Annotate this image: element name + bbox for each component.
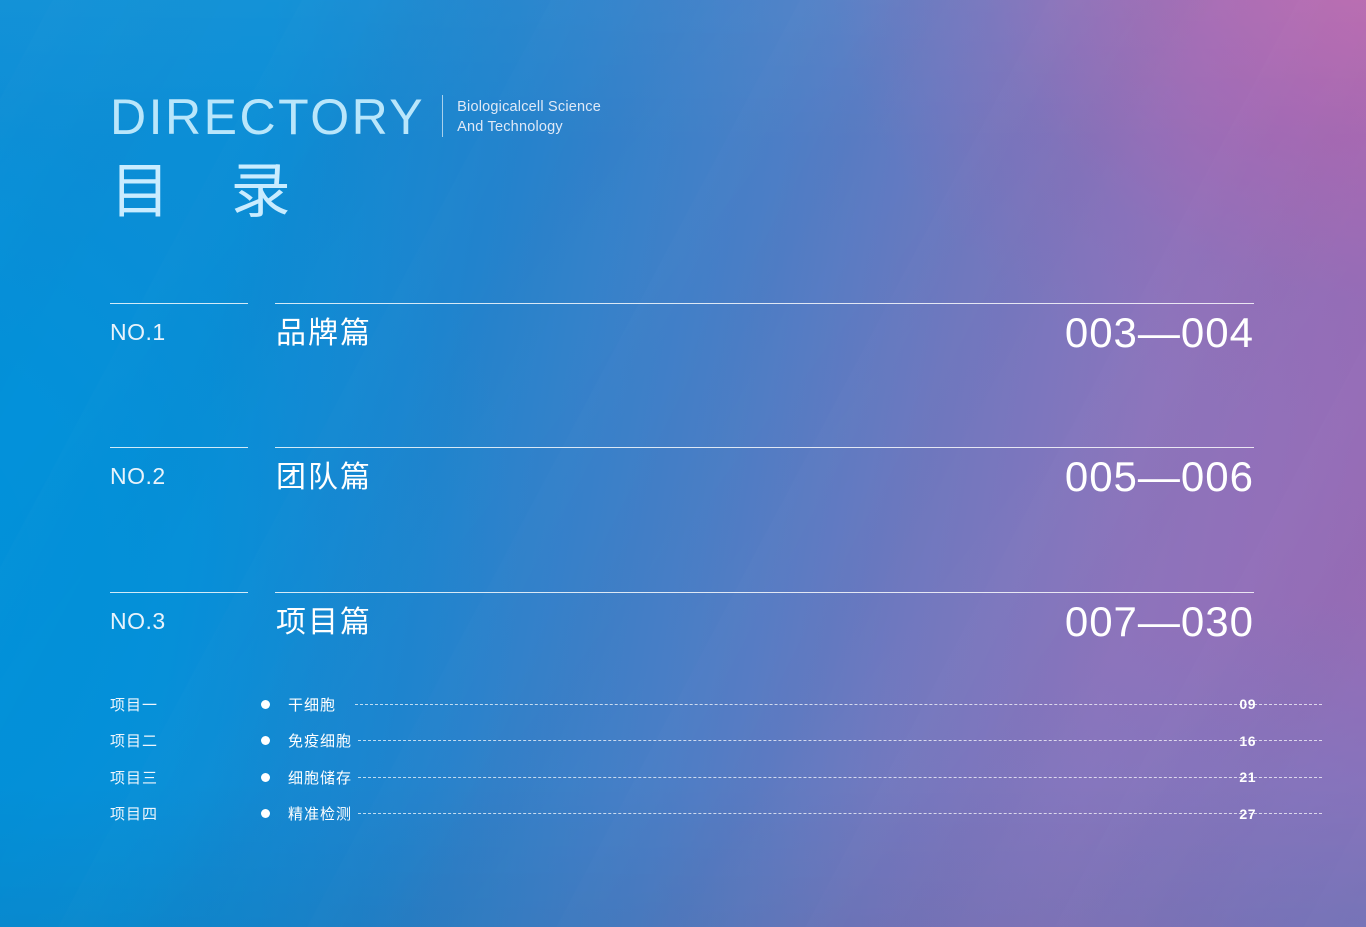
- section-title-3[interactable]: 项目篇: [276, 604, 372, 642]
- header-subtitle: Biologicalcell Science And Technology: [457, 92, 601, 137]
- leader-line: [358, 777, 1322, 778]
- list-item[interactable]: 项目四 精准检测 27: [0, 796, 1366, 833]
- section-number-1: NO.1: [110, 319, 166, 347]
- subitem-name-4[interactable]: 精准检测: [288, 803, 352, 824]
- bullet-icon: [261, 700, 270, 709]
- section-pages-3: 007—030: [1065, 598, 1254, 646]
- section-pages-2: 005—006: [1065, 453, 1254, 501]
- subitem-label-4: 项目四: [110, 803, 158, 824]
- subitem-page-4: 27: [1239, 806, 1256, 822]
- page-title-chinese: 目 录: [110, 160, 601, 223]
- page-header: DIRECTORY Biologicalcell Science And Tec…: [110, 92, 601, 223]
- section-title-2[interactable]: 团队篇: [276, 459, 372, 497]
- header-divider: [442, 95, 443, 137]
- bullet-icon: [261, 773, 270, 782]
- list-item[interactable]: 项目三 细胞储存 21: [0, 759, 1366, 796]
- section-rule-right-1: [275, 303, 1254, 304]
- subitem-name-1[interactable]: 干细胞: [288, 694, 336, 715]
- section-rule-left-3: [110, 592, 248, 593]
- section-number-3: NO.3: [110, 608, 166, 636]
- leader-line: [358, 740, 1322, 741]
- subitem-name-2[interactable]: 免疫细胞: [288, 730, 352, 751]
- header-subtitle-line-2: And Technology: [457, 117, 601, 137]
- list-item[interactable]: 项目二 免疫细胞 16: [0, 723, 1366, 760]
- section-rule-left-1: [110, 303, 248, 304]
- list-item[interactable]: 项目一 干细胞 09: [0, 686, 1366, 723]
- subitem-page-1: 09: [1239, 696, 1256, 712]
- section-number-2: NO.2: [110, 463, 166, 491]
- page-title-english: DIRECTORY: [110, 92, 425, 142]
- subitem-name-3[interactable]: 细胞储存: [288, 767, 352, 788]
- bullet-icon: [261, 809, 270, 818]
- page-content: DIRECTORY Biologicalcell Science And Tec…: [0, 0, 1366, 927]
- subitem-list: 项目一 干细胞 09 项目二 免疫细胞 16 项目三 细胞储存 21: [0, 686, 1366, 832]
- header-title-row: DIRECTORY Biologicalcell Science And Tec…: [110, 92, 601, 142]
- subitem-label-3: 项目三: [110, 767, 158, 788]
- section-rule-right-2: [275, 447, 1254, 448]
- subitem-label-1: 项目一: [110, 694, 158, 715]
- subitem-page-2: 16: [1239, 733, 1256, 749]
- section-title-1[interactable]: 品牌篇: [276, 315, 372, 353]
- section-pages-1: 003—004: [1065, 309, 1254, 357]
- header-subtitle-line-1: Biologicalcell Science: [457, 97, 601, 117]
- directory-page: DIRECTORY Biologicalcell Science And Tec…: [0, 0, 1366, 927]
- subitem-label-2: 项目二: [110, 730, 158, 751]
- section-rule-left-2: [110, 447, 248, 448]
- section-rule-right-3: [275, 592, 1254, 593]
- leader-line: [358, 813, 1322, 814]
- subitem-page-3: 21: [1239, 769, 1256, 785]
- leader-line: [355, 704, 1322, 705]
- bullet-icon: [261, 736, 270, 745]
